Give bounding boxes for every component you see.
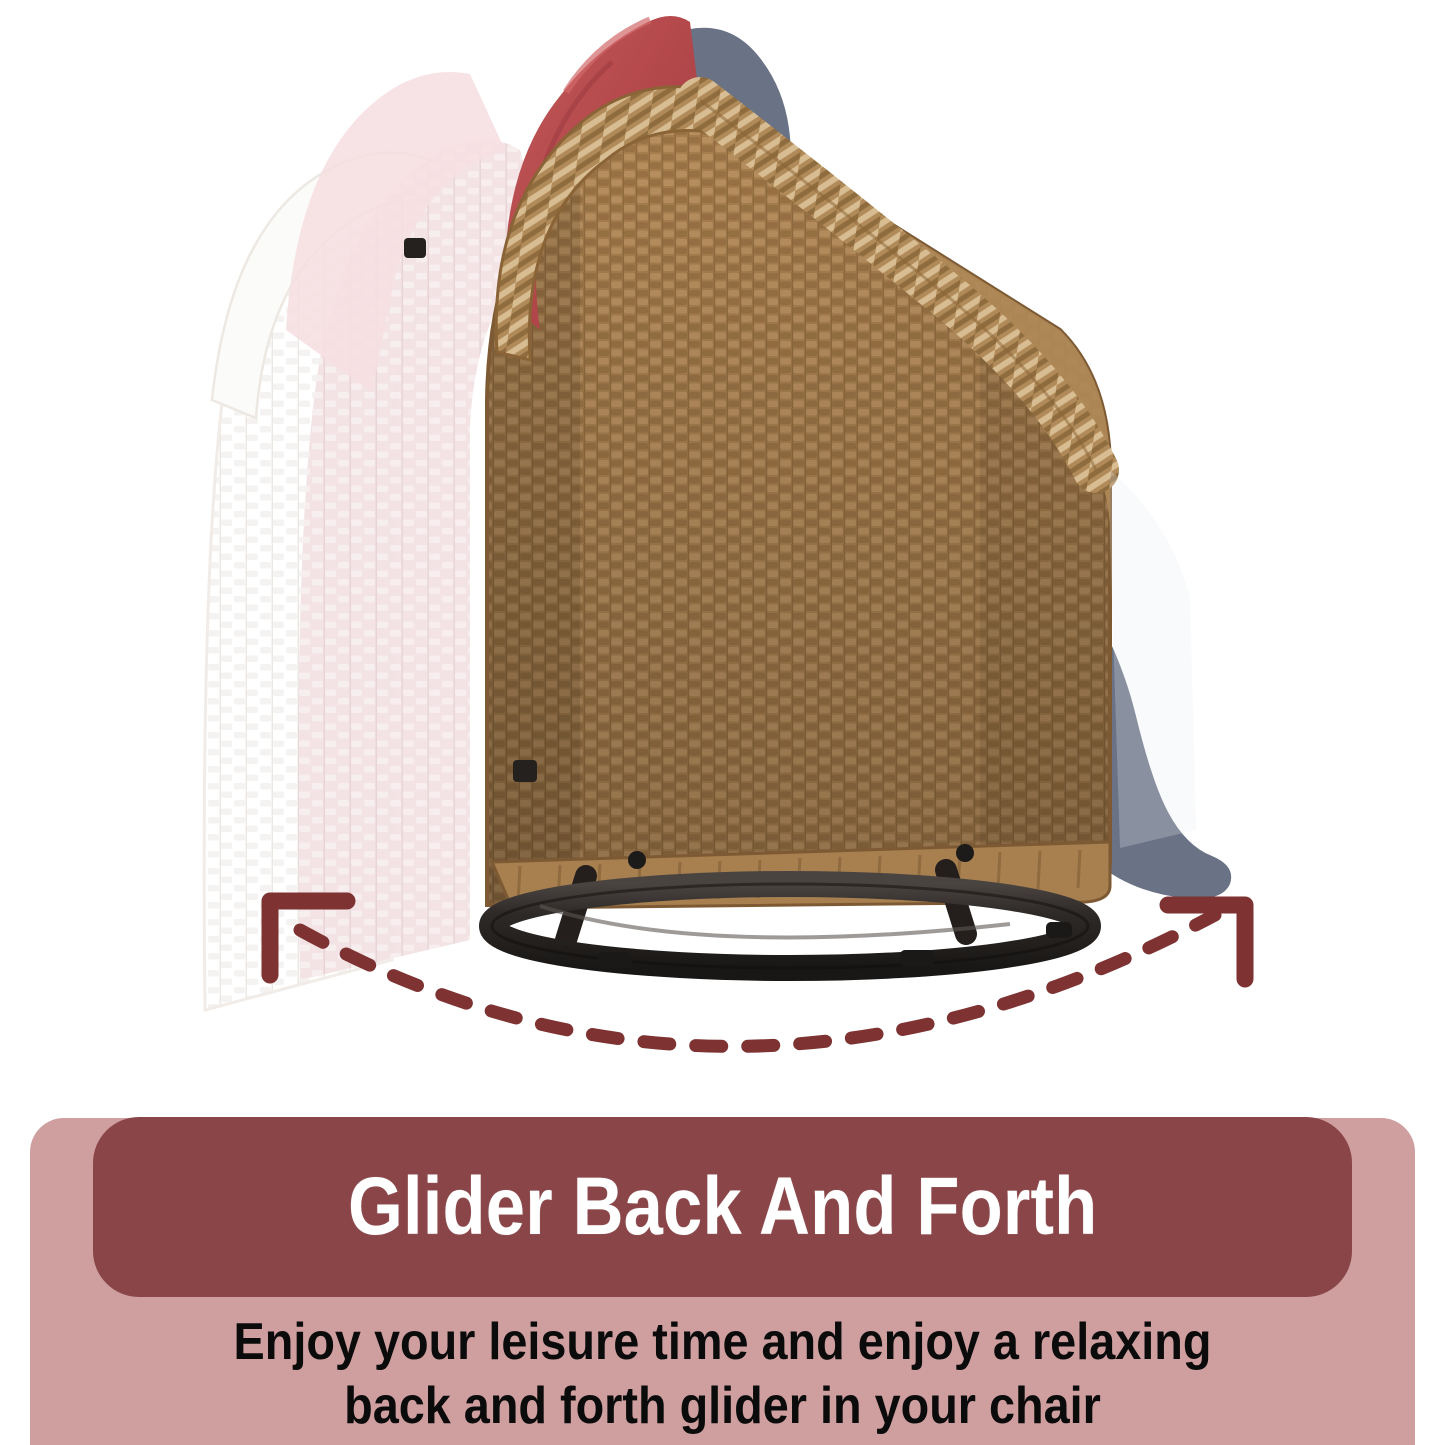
subtitle-line-2: back and forth glider in your chair: [99, 1374, 1346, 1438]
title-pill: Glider Back And Forth: [93, 1117, 1352, 1297]
subtitle-line-1: Enjoy your leisure time and enjoy a rela…: [99, 1310, 1346, 1374]
subtitle: Enjoy your leisure time and enjoy a rela…: [30, 1310, 1415, 1438]
glide-arc: [0, 0, 1445, 1118]
page-title: Glider Back And Forth: [348, 1160, 1097, 1254]
product-feature-image: Glider Back And Forth Enjoy your leisure…: [0, 0, 1445, 1445]
product-photo: [0, 0, 1445, 1118]
caption-panel: Glider Back And Forth Enjoy your leisure…: [30, 1118, 1415, 1445]
